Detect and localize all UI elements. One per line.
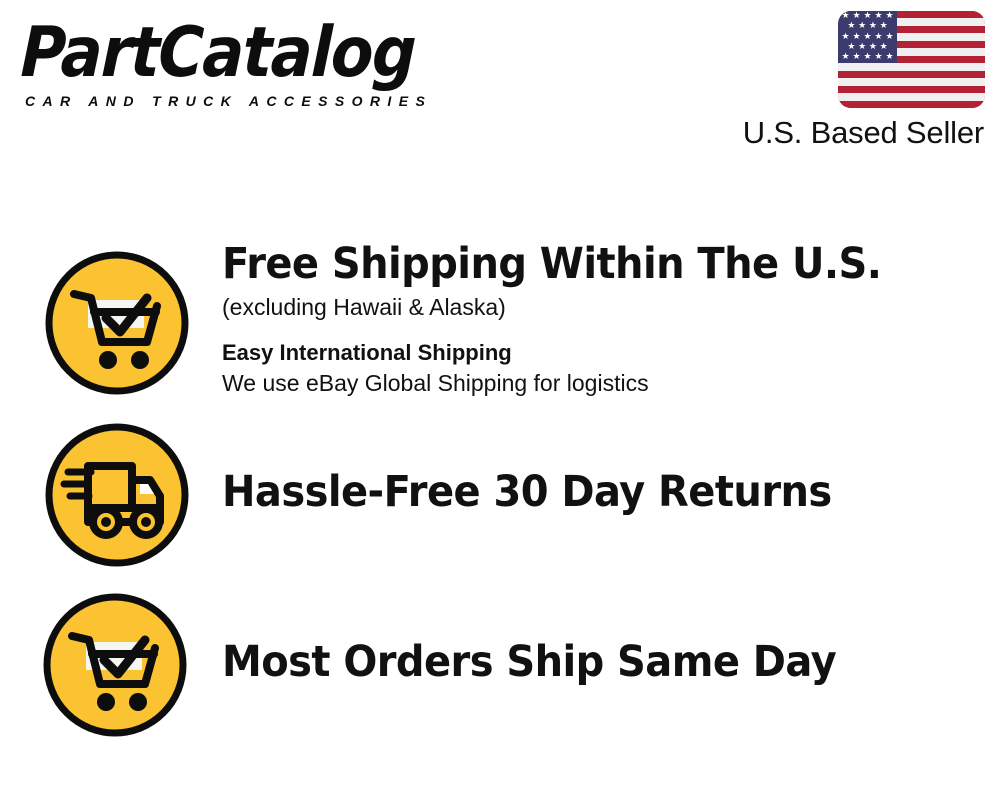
cart-check-icon-svg	[44, 250, 190, 396]
cart-check-icon	[42, 592, 188, 738]
feature-list: Free Shipping Within The U.S. (excluding…	[0, 0, 1000, 800]
delivery-truck-icon	[44, 422, 190, 568]
feature-text-block: Hassle-Free 30 Day Returns	[222, 468, 982, 516]
cart-check-icon-svg	[42, 592, 188, 738]
cart-check-icon	[44, 250, 190, 396]
feature-title: Hassle-Free 30 Day Returns	[222, 468, 929, 516]
feature-title: Free Shipping Within The U.S.	[222, 240, 929, 288]
feature-text-block: Free Shipping Within The U.S. (excluding…	[222, 240, 982, 398]
feature-subtitle: (excluding Hawaii & Alaska)	[222, 292, 982, 322]
delivery-truck-icon-svg	[44, 422, 190, 568]
feature-secondary-subtitle: We use eBay Global Shipping for logistic…	[222, 368, 982, 398]
feature-text-block: Most Orders Ship Same Day	[222, 638, 982, 686]
feature-title: Most Orders Ship Same Day	[222, 638, 929, 686]
feature-secondary-title: Easy International Shipping	[222, 338, 982, 368]
